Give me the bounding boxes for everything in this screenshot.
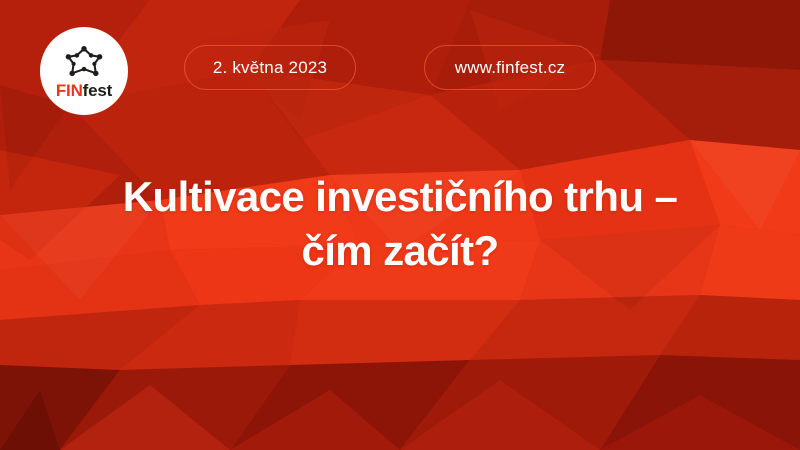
finfest-logo[interactable]: FINfest (40, 27, 128, 115)
slide-title: Kultivace investičního trhu – čím začít? (0, 170, 800, 278)
logo-wordmark: FINfest (56, 82, 112, 99)
star-network-icon (65, 45, 103, 79)
event-date-label: 2. května 2023 (213, 59, 327, 76)
logo-wordmark-fest: fest (83, 81, 112, 100)
event-date-badge[interactable]: 2. května 2023 (184, 45, 356, 90)
website-url-badge[interactable]: www.finfest.cz (424, 45, 596, 90)
slide-title-line-1: Kultivace investičního trhu – (40, 170, 760, 224)
website-url-label: www.finfest.cz (455, 59, 566, 76)
presentation-slide: FINfest 2. května 2023 www.finfest.cz Ku… (0, 0, 800, 450)
slide-title-line-2: čím začít? (40, 224, 760, 278)
logo-wordmark-fin: FIN (56, 81, 83, 100)
